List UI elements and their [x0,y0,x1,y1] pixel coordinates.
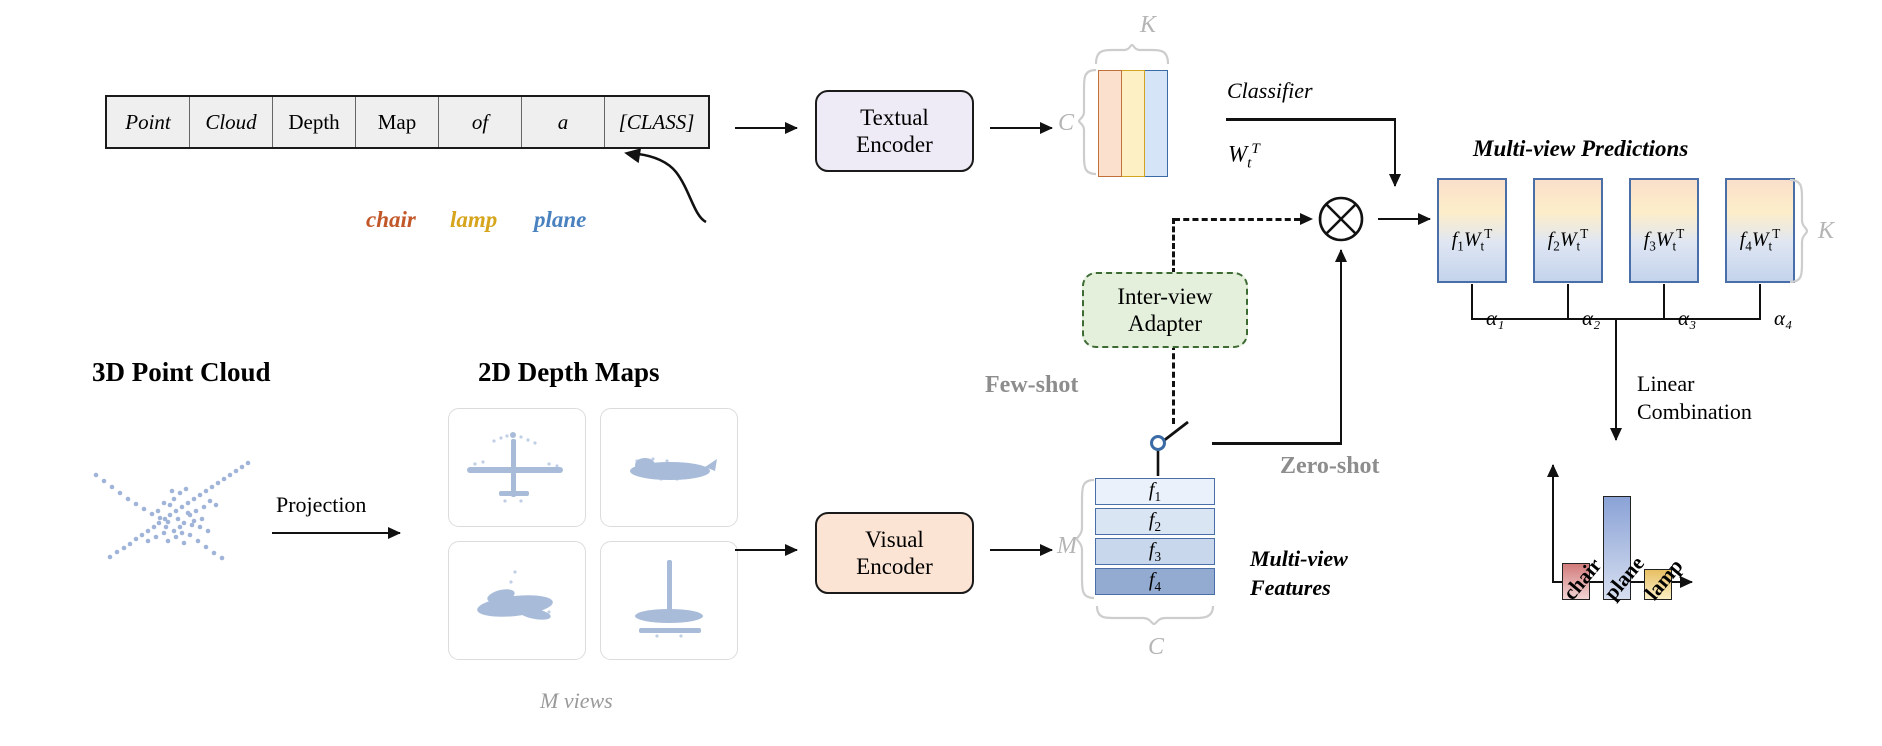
alpha-label-4: α₄ [1774,306,1792,331]
depth-maps-title: 2D Depth Maps [478,357,660,388]
multiview-predictions-row: f1WtT f2WtT f3WtT f4WtT [1437,178,1795,283]
feature-row[interactable]: f1 [1095,478,1215,505]
zero-shot-path-horizontal [1212,442,1342,445]
class-word-plane[interactable]: plane [534,207,586,233]
adapter-label-line2: Adapter [1128,310,1202,337]
arrow-projection [272,532,400,534]
feature-row[interactable]: f3 [1095,538,1215,565]
prompt-token[interactable]: Point [107,97,190,147]
classifier-C-label: C [1058,110,1074,137]
depth-map-front-view [601,542,738,660]
prompt-token[interactable]: Depth [273,97,356,147]
arrow-visual-encoder-to-features [990,549,1052,551]
depth-map-oblique-view [449,542,586,660]
depth-map-side-view [601,409,738,527]
brace-C-bottom [1095,604,1217,626]
classifier-column-plane [1145,70,1168,177]
classifier-weight-matrix [1098,70,1168,177]
brace-M-left [1076,478,1096,602]
predictions-K-label: K [1818,218,1834,245]
arrow-to-barchart [1615,320,1617,440]
features-M-label: M [1057,533,1077,560]
prompt-token[interactable]: of [439,97,522,147]
class-word-lamp[interactable]: lamp [450,207,497,233]
barchart-y-axis [1552,465,1554,583]
prompt-token-class[interactable]: [CLASS] [605,97,708,147]
depth-map-tile[interactable] [448,541,586,660]
visual-encoder-box[interactable]: Visual Encoder [815,512,974,594]
arrow-zero-shot-into-multiply [1340,250,1342,444]
feature-row[interactable]: f2 [1095,508,1215,535]
depth-map-tile[interactable] [600,408,738,527]
prediction-box[interactable]: f1WtT [1437,178,1507,283]
multiview-feature-stack: f1 f2 f3 f4 [1095,478,1215,598]
brace-C-left [1078,68,1098,178]
multiview-predictions-title: Multi-view Predictions [1473,136,1688,162]
prediction-bar-chart: chair plane lamp [1530,465,1710,600]
prediction-box[interactable]: f4WtT [1725,178,1795,283]
brace-K-right [1788,178,1810,284]
alpha-label-2: α₂ [1582,306,1600,331]
alpha-leg [1759,284,1761,320]
few-shot-label: Few-shot [985,372,1078,399]
arrow-classifier-into-multiply [1394,118,1396,186]
arrow-textual-encoder-to-classifier [990,127,1052,129]
features-C-label: C [1148,634,1164,661]
multiply-operator [1316,194,1366,244]
textual-encoder-label-line2: Encoder [856,131,933,158]
prompt-token-row: Point Cloud Depth Map of a [CLASS] [105,95,710,149]
multiview-features-label: Multi-view Features [1250,545,1348,602]
dashed-line-adapter-to-switch [1172,344,1175,424]
point-cloud-title: 3D Point Cloud [92,357,271,388]
alpha-leg [1663,284,1665,320]
prompt-token[interactable]: Cloud [190,97,273,147]
alpha-leg [1567,284,1569,320]
adapter-label-line1: Inter-view [1117,283,1212,310]
point-cloud-visual [70,415,290,595]
zero-shot-label: Zero-shot [1280,453,1380,480]
class-insert-curved-arrow [598,146,718,226]
classifier-column-lamp [1122,70,1145,177]
visual-encoder-label-line2: Encoder [856,553,933,580]
alpha-label-1: α₁ [1486,306,1504,331]
dashed-line-to-adapter-top [1172,218,1175,274]
classifier-label: Classifier [1227,78,1313,104]
m-views-label: M views [540,688,613,714]
alpha-leg [1471,284,1473,320]
visual-encoder-label-line1: Visual [865,526,924,553]
class-word-chair[interactable]: chair [366,207,416,233]
depth-map-tile[interactable] [448,408,586,527]
feature-row[interactable]: f4 [1095,568,1215,595]
inter-view-adapter-box[interactable]: Inter-view Adapter [1082,272,1248,348]
classifier-weight-symbol: WtT [1228,140,1260,172]
arrow-multiply-to-predictions [1378,218,1430,220]
prompt-token[interactable]: a [522,97,605,147]
brace-K-top [1094,44,1170,66]
projection-label: Projection [276,492,366,518]
prompt-token[interactable]: Map [356,97,439,147]
arrow-depthmaps-to-visual-encoder [735,549,797,551]
classifier-to-multiply-line [1226,118,1396,121]
alpha-label-3: α₃ [1678,306,1696,331]
textual-encoder-label-line1: Textual [860,104,929,131]
prediction-box[interactable]: f3WtT [1629,178,1699,283]
depth-map-top-view [449,409,586,527]
classifier-column-chair [1098,70,1122,177]
arrow-prompt-to-textual-encoder [735,127,797,129]
dashed-arrow-adapter-to-multiply [1174,218,1300,221]
depth-maps-grid [448,408,738,660]
depth-map-tile[interactable] [600,541,738,660]
classifier-K-label: K [1140,12,1156,39]
shot-mode-switch[interactable] [1140,418,1210,478]
prediction-box[interactable]: f2WtT [1533,178,1603,283]
linear-combination-label: Linear Combination [1637,370,1752,425]
textual-encoder-box[interactable]: Textual Encoder [815,90,974,172]
